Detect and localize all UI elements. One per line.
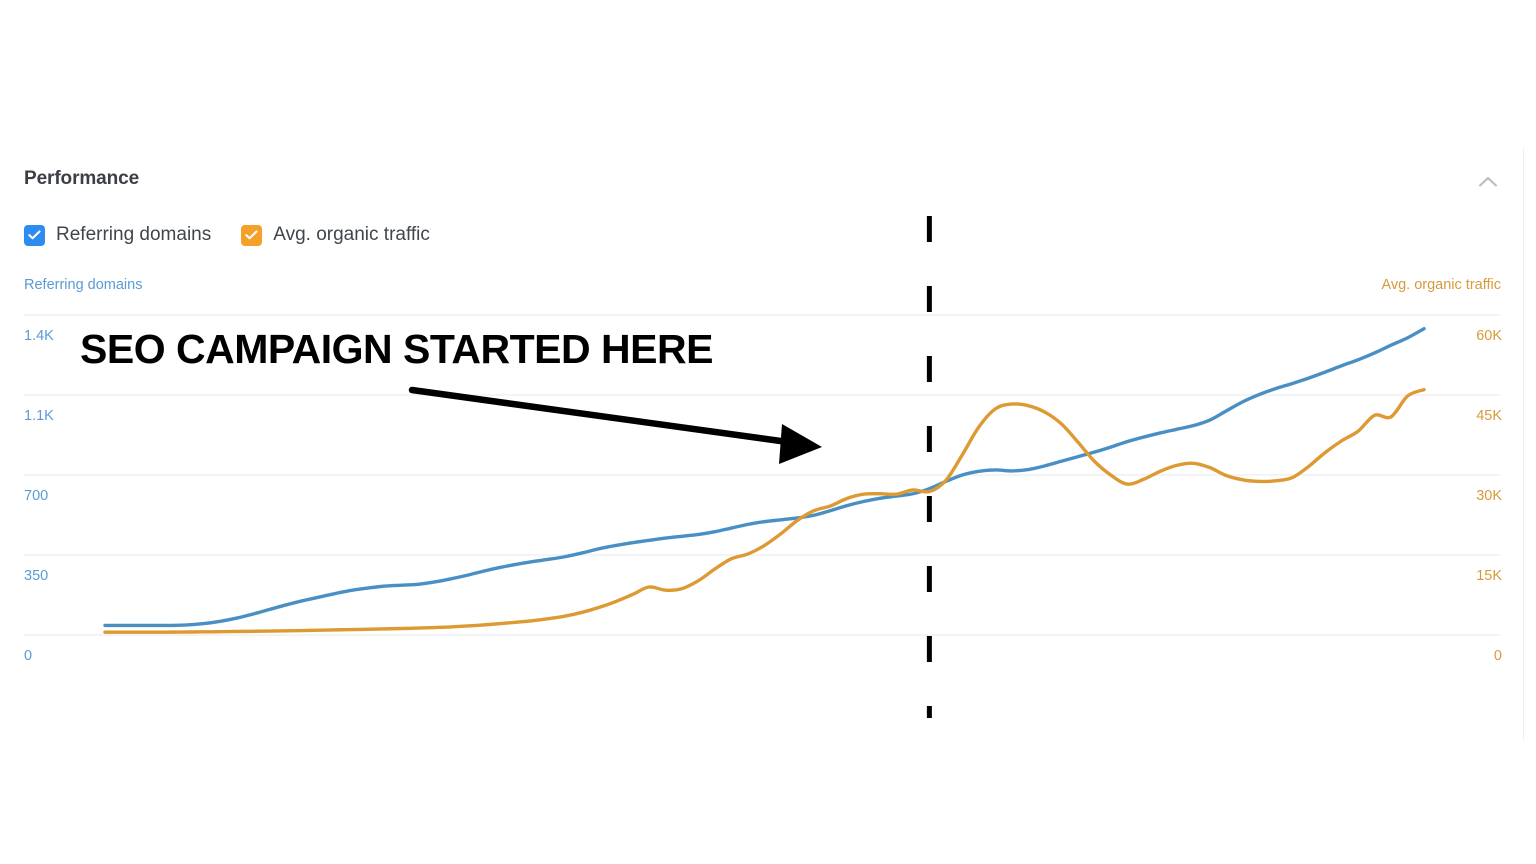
left-axis-tick: 700	[24, 488, 48, 504]
screenshot-root: Performance Referring domains	[0, 0, 1536, 864]
performance-card: Performance Referring domains	[0, 148, 1524, 740]
right-axis-tick: 60K	[1476, 328, 1502, 344]
annotation-text: SEO CAMPAIGN STARTED HERE	[80, 326, 713, 373]
right-axis-tick: 0	[1494, 648, 1502, 664]
left-axis-tick: 1.1K	[24, 408, 54, 424]
right-axis-tick: 30K	[1476, 488, 1502, 504]
left-axis-tick: 1.4K	[24, 328, 54, 344]
line-avg-organic-traffic	[105, 390, 1424, 633]
chart-plot-area: 1.4K1.1K7003500 60K45K30K15K0	[0, 148, 1524, 740]
chart-canvas	[0, 148, 1524, 740]
right-axis-tick: 45K	[1476, 408, 1502, 424]
left-axis-tick: 0	[24, 648, 32, 664]
right-axis-tick: 15K	[1476, 568, 1502, 584]
left-axis-tick: 350	[24, 568, 48, 584]
